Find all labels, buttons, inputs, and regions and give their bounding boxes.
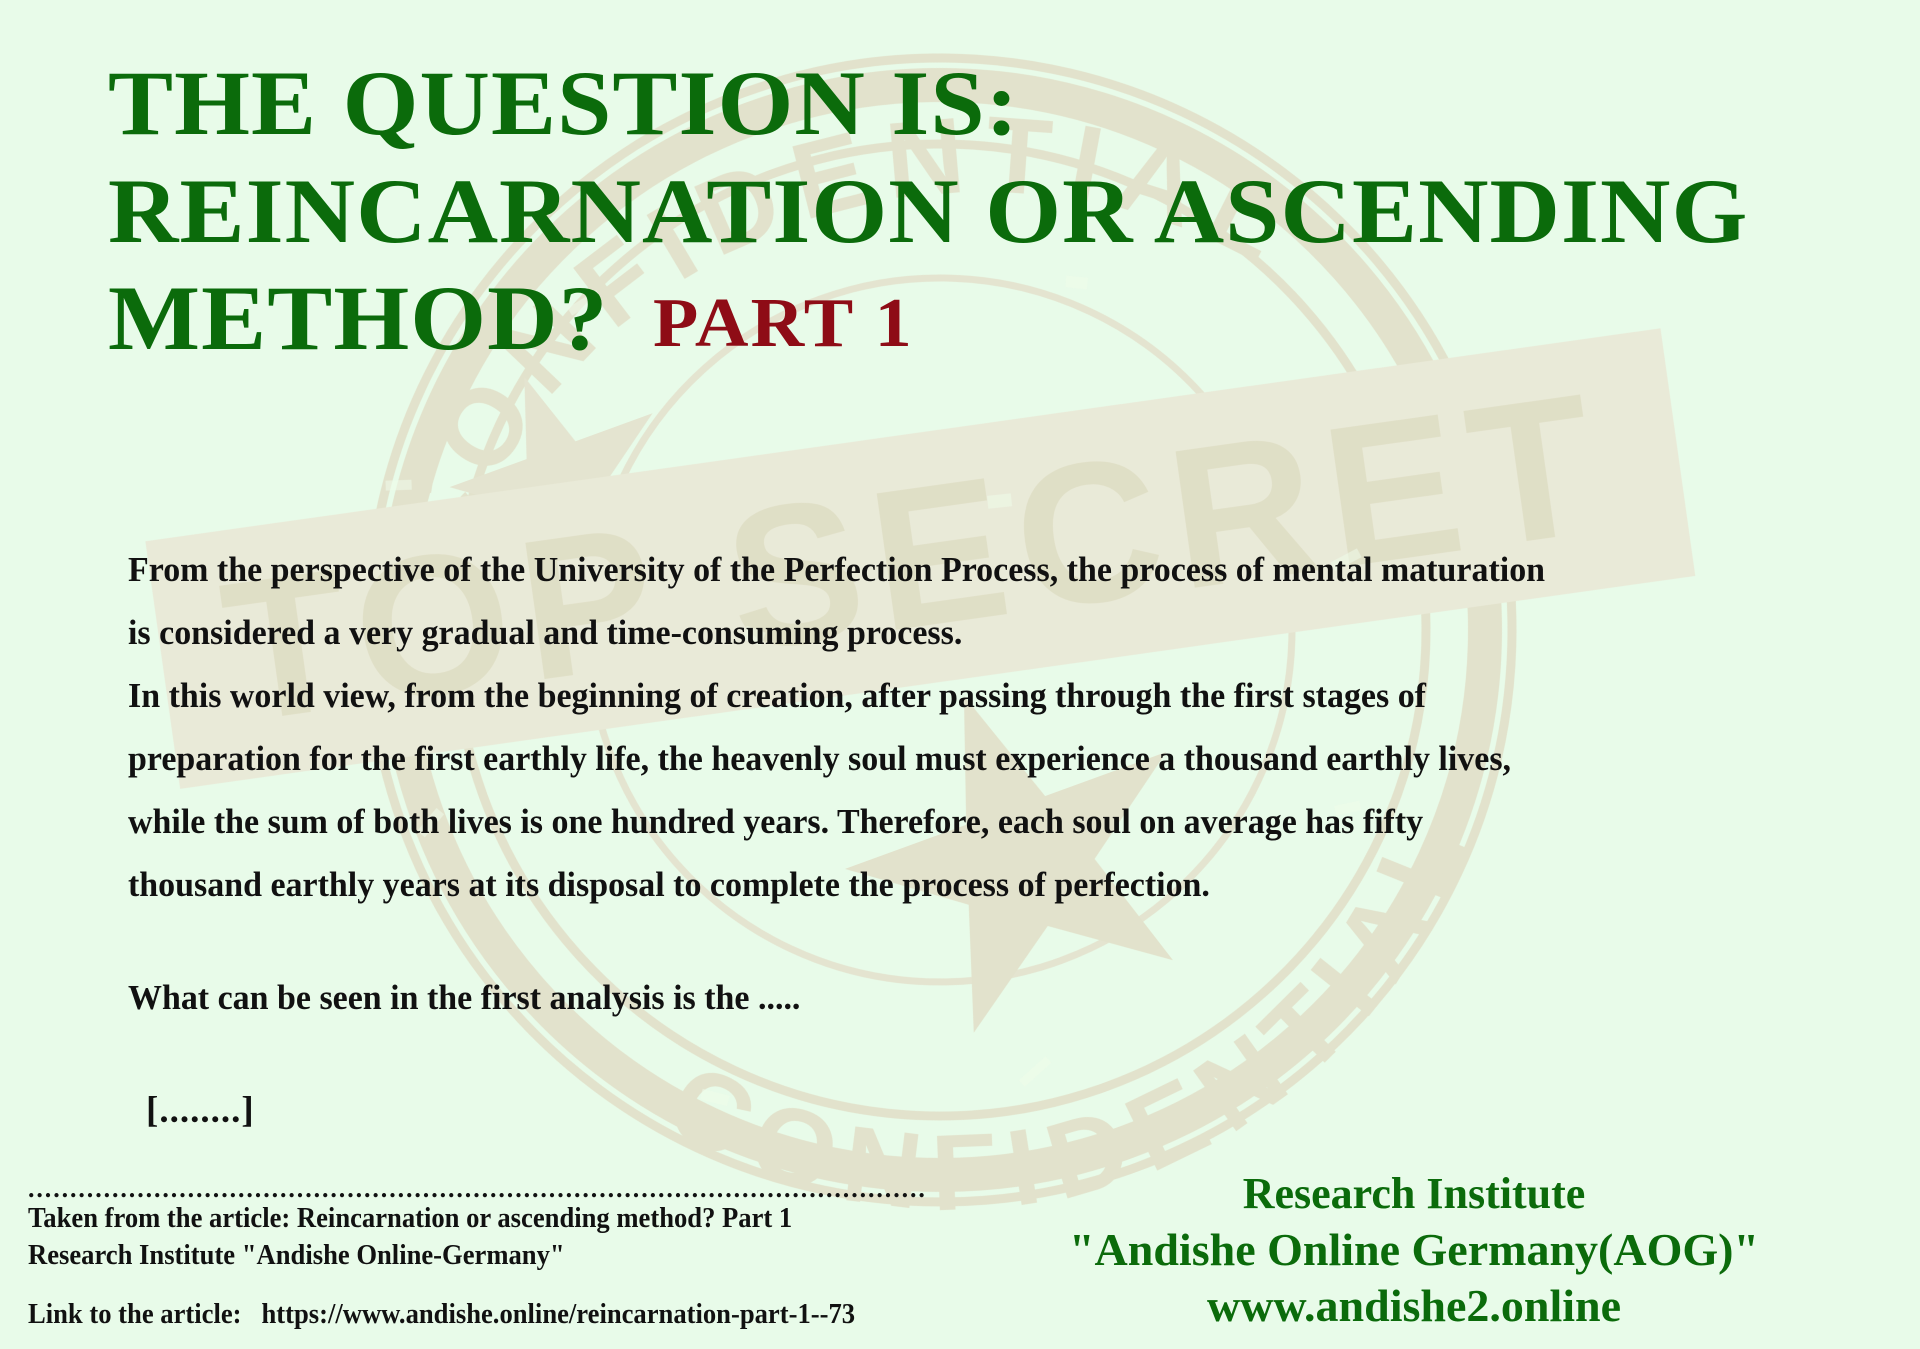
body-p1-line-1: From the perspective of the University o… — [128, 538, 1796, 601]
paragraph-spacer — [128, 916, 1848, 966]
organization-block: Research Institute "Andishe Online Germa… — [944, 1166, 1884, 1334]
org-website[interactable]: www.andishe2.online — [944, 1278, 1884, 1334]
title-line-2: REINCARNATION OR ASCENDING — [108, 158, 1920, 266]
title-line-3-with-part: METHOD?PART 1 — [108, 265, 1920, 373]
truncation-marker: [........] — [128, 1079, 1848, 1142]
title-line-3: METHOD? — [108, 267, 608, 369]
article-body: From the perspective of the University o… — [128, 538, 1848, 1142]
title-line-1: THE QUESTION IS: — [108, 50, 1920, 158]
body-p1-line-2: is considered a very gradual and time-co… — [128, 601, 1796, 664]
org-name-line-1: Research Institute — [944, 1166, 1884, 1222]
org-name-line-2: "Andishe Online Germany(AOG)" — [944, 1222, 1884, 1278]
body-p3-line-1: What can be seen in the first analysis i… — [128, 966, 1796, 1029]
body-p2-line-4: thousand earthly years at its disposal t… — [128, 853, 1796, 916]
poster-canvas: CONFIDENTIAL CONFIDENTIAL TOP SECRET — [0, 0, 1920, 1349]
body-p2-line-3: while the sum of both lives is one hundr… — [128, 790, 1796, 853]
body-p2-line-2: preparation for the first earthly life, … — [128, 727, 1796, 790]
paragraph-spacer-2 — [128, 1029, 1848, 1079]
page-title: THE QUESTION IS: REINCARNATION OR ASCEND… — [108, 50, 1888, 373]
part-badge: PART 1 — [653, 285, 914, 362]
body-p2-line-1: In this world view, from the beginning o… — [128, 664, 1796, 727]
article-url[interactable]: https://www.andishe.online/reincarnation… — [261, 1299, 855, 1330]
footer-link-label: Link to the article: — [28, 1299, 242, 1330]
